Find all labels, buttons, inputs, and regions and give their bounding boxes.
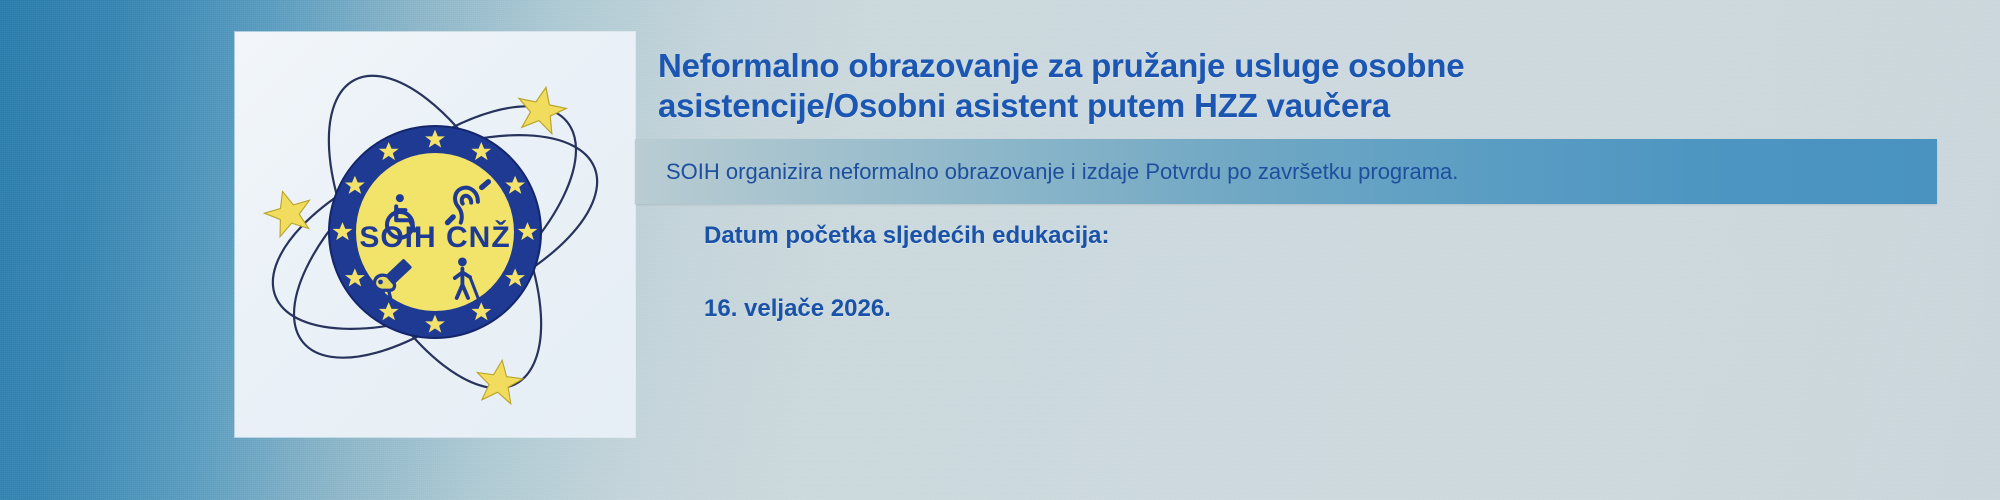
content-column: Neformalno obrazovanje za pružanje uslug…	[658, 0, 2000, 500]
emblem-wordmark: SOIH CNŽ	[359, 220, 510, 254]
page-title-line-1: Neformalno obrazovanje za pružanje uslug…	[658, 46, 1658, 86]
promo-banner: SOIH CNŽ Neformalno obrazovanje za pruža…	[0, 0, 2000, 500]
next-education-date-value: 16. veljače 2026.	[704, 295, 891, 323]
star-icon-top-right	[513, 82, 569, 135]
soih-cnz-logo: SOIH CNŽ	[235, 32, 635, 437]
subtitle-band: SOIH organizira neformalno obrazovanje i…	[635, 139, 1937, 204]
logo-panel: SOIH CNŽ	[235, 32, 635, 437]
star-icon-left	[260, 185, 317, 239]
next-education-date-label: Datum početka sljedećih edukacija:	[704, 222, 1109, 250]
star-icon-bottom-right	[474, 357, 525, 405]
subtitle-text: SOIH organizira neformalno obrazovanje i…	[666, 139, 1458, 204]
emblem: SOIH CNŽ	[329, 126, 541, 338]
page-title: Neformalno obrazovanje za pružanje uslug…	[658, 46, 1658, 127]
page-title-line-2: asistencije/Osobni asistent putem HZZ va…	[658, 86, 1658, 126]
